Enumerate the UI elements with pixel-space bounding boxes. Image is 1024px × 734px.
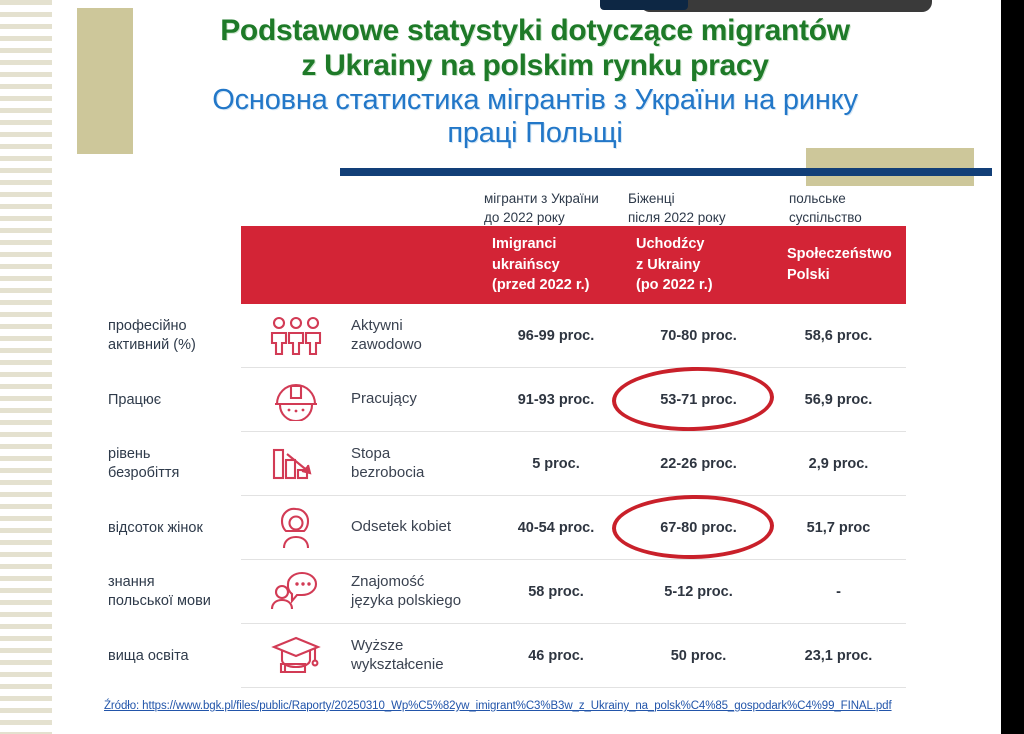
cell-r4-refugees: 5-12 proc. [626,584,771,600]
statistics-table: Imigranci ukraińscy (przed 2022 r.) Ucho… [241,226,906,688]
title-polish-line1: Podstawowe statystyki dotyczące migrantó… [140,14,930,49]
page-title: Podstawowe statystyki dotyczące migrantó… [140,14,930,151]
ua-row-caption-5-line1: вища освіта [108,647,189,666]
table-header-refugees-line1: Uchodźcy [636,234,771,255]
ua-row-caption-0-line1: професійно [108,317,196,336]
graduation-cap-icon [241,634,351,678]
cell-r0-immigrants: 96-99 proc. [486,328,626,344]
ua-row-caption-1-line1: Працює [108,391,161,410]
table-row: Wyższe wykształcenie 46 proc. 50 proc. 2… [241,624,906,688]
cell-r1-immigrants: 91-93 proc. [486,392,626,408]
decorative-stripe-border [0,0,52,734]
ua-column-head-polish-society-line1: польське [789,190,862,209]
table-header-immigrants-line2: ukraińscy [492,255,626,276]
ua-row-caption-2-line1: рівень [108,445,179,464]
row-label-higher-education: Wyższe wykształcenie [351,637,486,675]
ua-column-head-migrants-line1: мігранти з України [484,190,599,209]
ua-row-caption-spacer [108,226,238,304]
table-header-immigrants-line3: (przed 2022 r.) [492,275,626,296]
ua-row-caption-0-line2: активний (%) [108,336,196,355]
cell-r5-refugees: 50 proc. [626,648,771,664]
row-label-active-line2: zawodowo [351,336,486,355]
row-label-women-share: Odsetek kobiet [351,518,486,537]
cell-r3-refugees: 67-80 proc. [626,520,771,536]
table-header-refugees: Uchodźcy z Ukrainy (po 2022 r.) [626,234,771,296]
cell-r1-refugees: 53-71 proc. [626,392,771,408]
table-row: Znajomość języka polskiego 58 proc. 5-12… [241,560,906,624]
table-header-immigrants: Imigranci ukraińscy (przed 2022 r.) [486,234,626,296]
table-header-immigrants-line1: Imigranci [492,234,626,255]
row-label-unemployment-line2: bezrobocia [351,464,486,483]
ua-row-caption-4-line2: польської мови [108,592,211,611]
ua-row-caption-2-line2: безробіття [108,464,179,483]
table-header-refugees-line2: z Ukrainy [636,255,771,276]
cell-r2-polish: 2,9 proc. [771,456,906,472]
cell-r1-polish: 56,9 proc. [771,392,906,408]
table-header-polish-society-line2: Polski [787,265,906,286]
table-row: Aktywni zawodowo 96-99 proc. 70-80 proc.… [241,304,906,368]
speech-bubble-person-icon [241,571,351,613]
table-row: Odsetek kobiet 40-54 proc. 67-80 proc. 5… [241,496,906,560]
ua-column-head-refugees: Біженці після 2022 року [628,190,726,227]
source-link[interactable]: Źródło: https://www.bgk.pl/files/public/… [104,700,934,712]
declining-bar-chart-icon [241,444,351,484]
people-group-icon [241,316,351,356]
cell-r2-immigrants: 5 proc. [486,456,626,472]
title-ukrainian-line2: праці Польщі [140,117,930,151]
title-ukrainian-line1: Основна статистика мігрантів з України н… [140,84,930,118]
ua-row-captions: професійно активний (%) Працює рівень бе… [108,226,238,688]
row-label-polish-language-line1: Znajomość [351,573,486,592]
ua-column-head-refugees-line1: Біженці [628,190,726,209]
ua-column-head-refugees-line2: після 2022 року [628,209,726,228]
ua-row-caption-4: знання польської мови [108,560,238,624]
ua-column-head-migrants-line2: до 2022 року [484,209,599,228]
ua-column-head-migrants: мігранти з України до 2022 року [484,190,599,227]
cell-r4-polish: - [771,584,906,600]
table-header-row: Imigranci ukraińscy (przed 2022 r.) Ucho… [241,226,906,304]
woman-icon [241,506,351,550]
row-label-polish-language: Znajomość języka polskiego [351,573,486,611]
row-label-higher-education-line1: Wyższe [351,637,486,656]
ua-row-caption-2: рівень безробіття [108,432,238,496]
ua-row-caption-1: Працює [108,368,238,432]
row-label-higher-education-line2: wykształcenie [351,656,486,675]
top-navy-bar [600,0,688,10]
slide-canvas: Podstawowe statystyki dotyczące migrantó… [0,0,1024,734]
table-header-refugees-line3: (po 2022 r.) [636,275,771,296]
ua-row-caption-3: відсоток жінок [108,496,238,560]
cell-r5-immigrants: 46 proc. [486,648,626,664]
cell-r0-refugees: 70-80 proc. [626,328,771,344]
title-divider-rule [340,168,992,176]
cell-r0-polish: 58,6 proc. [771,328,906,344]
decorative-khaki-block-right [806,148,974,186]
ua-column-head-polish-society-line2: суспільство [789,209,862,228]
ua-row-caption-5: вища освіта [108,624,238,688]
row-label-working: Pracujący [351,390,486,409]
right-edge-bar [1001,0,1024,734]
row-label-women-share-line1: Odsetek kobiet [351,518,486,537]
hard-hat-icon [241,379,351,421]
cell-r4-immigrants: 58 proc. [486,584,626,600]
ua-row-caption-4-line1: знання [108,573,211,592]
table-header-polish-society: Społeczeństwo Polski [771,244,906,285]
cell-r5-polish: 23,1 proc. [771,648,906,664]
title-polish-line2: z Ukrainy na polskim rynku pracy [140,49,930,84]
cell-r3-polish: 51,7 proc [771,520,906,536]
row-label-active: Aktywni zawodowo [351,317,486,355]
row-label-unemployment-line1: Stopa [351,445,486,464]
ua-column-head-polish-society: польське суспільство [789,190,862,227]
cell-r3-immigrants: 40-54 proc. [486,520,626,536]
table-header-polish-society-line1: Społeczeństwo [787,244,906,265]
row-label-polish-language-line2: języka polskiego [351,592,486,611]
row-label-active-line1: Aktywni [351,317,486,336]
table-row: Pracujący 91-93 proc. 53-71 proc. 56,9 p… [241,368,906,432]
decorative-khaki-block-left [77,8,133,154]
cell-r2-refugees: 22-26 proc. [626,456,771,472]
ua-row-caption-3-line1: відсоток жінок [108,519,203,538]
table-row: Stopa bezrobocia 5 proc. 22-26 proc. 2,9… [241,432,906,496]
row-label-unemployment: Stopa bezrobocia [351,445,486,483]
row-label-working-line1: Pracujący [351,390,486,409]
ua-row-caption-0: професійно активний (%) [108,304,238,368]
